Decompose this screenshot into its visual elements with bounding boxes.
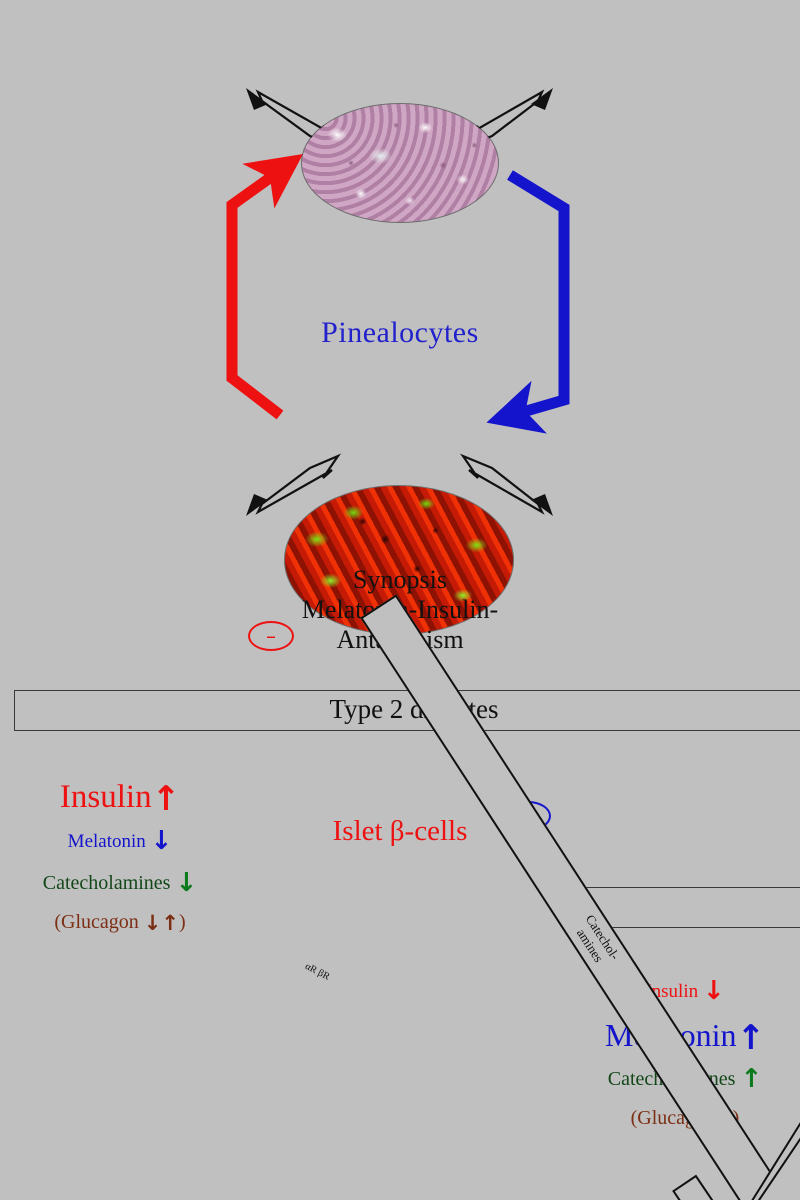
t2-catecholamines-arrow-down: ↓ — [175, 868, 197, 898]
pinealocytes-micrograph — [302, 104, 498, 222]
t2-glucagon-arrows: ↓↑ — [144, 911, 179, 935]
t2-melatonin-label: Melatonin — [68, 831, 146, 852]
t2-row-catecholamines: Catecholamines ↓ — [0, 868, 240, 898]
t2-insulin-arrow-up: ↑ — [152, 779, 181, 819]
t1-catecholamines-arrow-up: ↑ — [740, 1064, 762, 1094]
center-title-line-1: Synopsis — [270, 565, 530, 595]
t2-catecholamines-label: Catecholamines — [43, 872, 171, 894]
diagram-canvas: Pinealocytes Islet β-cells Synopsis Mela… — [0, 0, 800, 600]
t1-insulin-arrow-down: ↓ — [703, 976, 725, 1006]
t1-melatonin-arrow-up: ↑ — [737, 1018, 766, 1058]
type-1-diabetes-box: Type 1 diabetes — [583, 887, 800, 928]
type-2-diabetes-box: Type 2 diabetes — [14, 690, 800, 731]
t2-glucagon-label: (Glucagon — [54, 911, 138, 933]
connector-bottom-right — [463, 456, 542, 512]
type-2-diabetes-panel: Insulin↑ Melatonin ↓ Catecholamines ↓ (G… — [0, 779, 240, 935]
t2-insulin-label: Insulin — [60, 779, 152, 815]
t2-row-insulin: Insulin↑ — [0, 779, 240, 819]
t2-row-melatonin: Melatonin ↓ — [0, 826, 240, 856]
t2-glucagon-close-paren: ) — [179, 911, 186, 933]
t2-row-glucagon: (Glucagon ↓↑) — [0, 911, 240, 935]
pinealocytes-caption: Pinealocytes — [0, 316, 800, 350]
t2-melatonin-arrow-down: ↓ — [151, 826, 173, 856]
